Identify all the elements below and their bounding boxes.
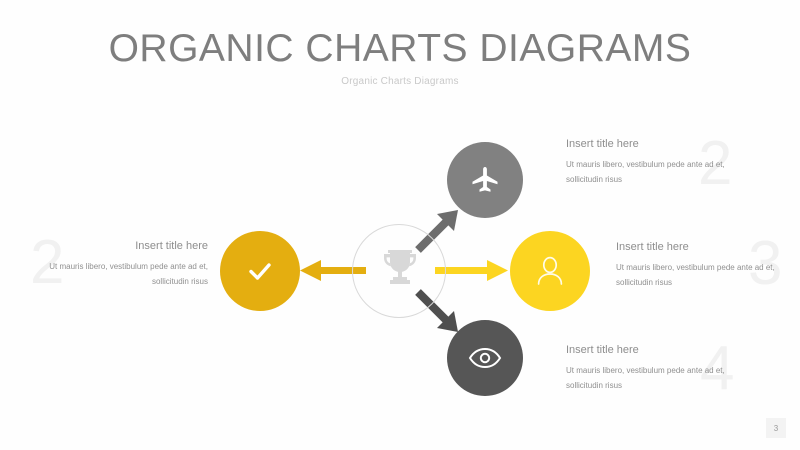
node-airplane-circle[interactable] <box>447 142 523 218</box>
check-icon <box>243 254 277 288</box>
airplane-icon <box>470 165 500 195</box>
node-check-circle[interactable] <box>220 231 300 311</box>
slide-canvas: ORGANIC CHARTS DIAGRAMS Organic Charts D… <box>0 0 800 450</box>
block-body: Ut mauris libero, vestibulum pede ante a… <box>48 260 208 289</box>
text-block-bottom: Insert title here Ut mauris libero, vest… <box>566 344 726 393</box>
trophy-icon <box>379 245 421 289</box>
page-number: 3 <box>766 418 786 438</box>
person-icon <box>535 255 565 287</box>
block-body: Ut mauris libero, vestibulum pede ante a… <box>616 261 776 290</box>
block-title: Insert title here <box>616 241 776 253</box>
node-person-circle[interactable] <box>510 231 590 311</box>
text-block-top: Insert title here Ut mauris libero, vest… <box>566 138 726 187</box>
block-title: Insert title here <box>566 138 726 150</box>
block-title: Insert title here <box>566 344 726 356</box>
block-title: Insert title here <box>48 240 208 252</box>
node-eye-circle[interactable] <box>447 320 523 396</box>
eye-icon <box>468 346 502 370</box>
block-body: Ut mauris libero, vestibulum pede ante a… <box>566 158 726 187</box>
block-body: Ut mauris libero, vestibulum pede ante a… <box>566 364 726 393</box>
text-block-left: Insert title here Ut mauris libero, vest… <box>48 240 208 289</box>
text-block-right: Insert title here Ut mauris libero, vest… <box>616 241 776 290</box>
